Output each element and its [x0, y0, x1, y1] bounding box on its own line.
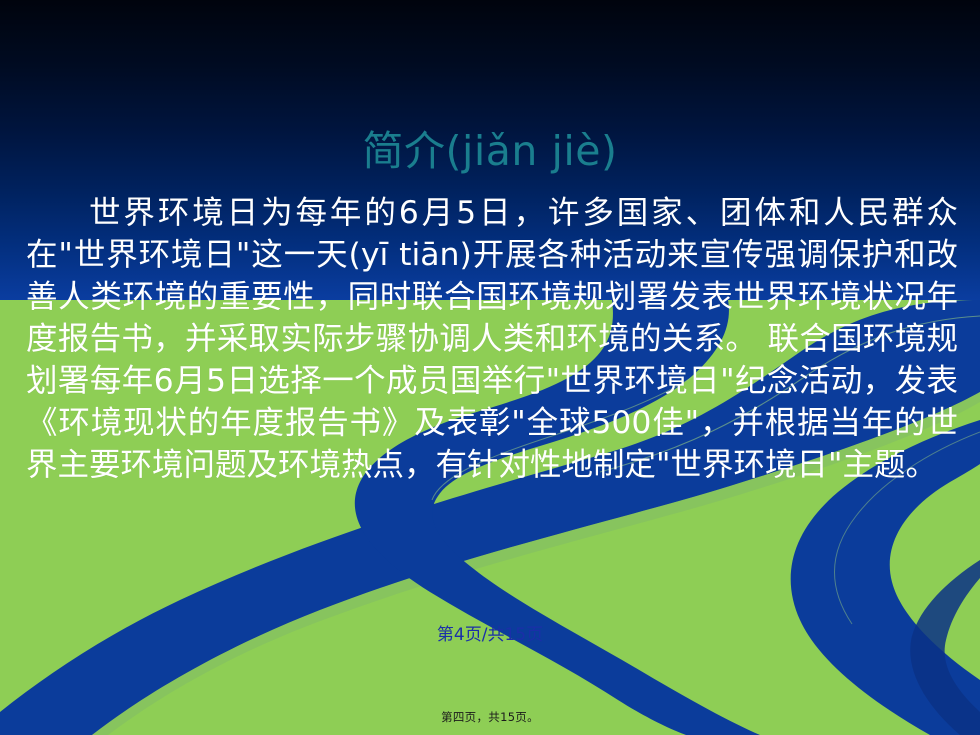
- slide-body: 世界环境日为每年的6月5日，许多国家、团体和人民群众在"世界环境日"这一天(yī…: [26, 192, 958, 486]
- slide-body-text: 世界环境日为每年的6月5日，许多国家、团体和人民群众在"世界环境日"这一天(yī…: [26, 192, 958, 486]
- page-counter: 第4页/共15页: [0, 620, 980, 645]
- presentation-slide: 简介(jiǎn jiè) 世界环境日为每年的6月5日，许多国家、团体和人民群众在…: [0, 0, 980, 735]
- slide-footer-note: 第四页，共15页。: [0, 709, 980, 725]
